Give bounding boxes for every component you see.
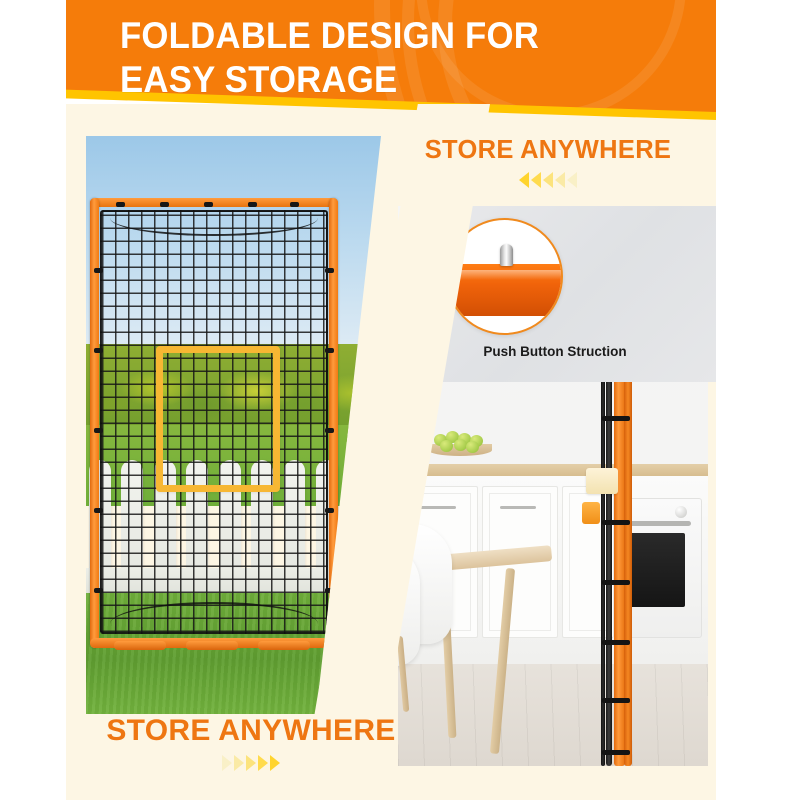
chevron-right-icon — [270, 755, 280, 771]
chevron-left-icon — [543, 172, 553, 188]
store-anywhere-top-label: STORE ANYWHERE — [380, 136, 716, 165]
strike-zone-target — [156, 346, 280, 492]
frame-top-bar — [90, 198, 338, 207]
store-anywhere-top-callout: STORE ANYWHERE — [380, 136, 716, 208]
kitchen-countertop — [398, 464, 708, 476]
product-label-tag — [586, 468, 618, 494]
right-arrow-row — [86, 755, 416, 771]
net-bottom-sag — [110, 602, 318, 624]
left-arrow-row — [380, 172, 716, 188]
chevron-right-icon — [258, 755, 268, 771]
header-title-line-1: FOLDABLE DESIGN FOR — [120, 14, 562, 58]
orange-tube — [446, 264, 563, 316]
chevron-right-icon — [222, 755, 232, 771]
rebounder-frame — [90, 198, 338, 648]
push-button-pin-icon — [500, 244, 513, 266]
chevron-right-icon — [234, 755, 244, 771]
header-banner: FOLDABLE DESIGN FOR EASY STORAGE — [0, 0, 800, 132]
chevron-left-icon — [555, 172, 565, 188]
right-page-margin — [716, 0, 800, 800]
header-title: FOLDABLE DESIGN FOR EASY STORAGE — [120, 14, 562, 102]
chevron-left-icon — [519, 172, 529, 188]
header-title-line-2: EASY STORAGE — [120, 58, 562, 102]
push-button-label: Push Button Struction — [410, 344, 700, 359]
chevron-left-icon — [567, 172, 577, 188]
store-anywhere-bottom-callout: STORE ANYWHERE — [86, 714, 416, 794]
left-page-margin — [0, 0, 66, 800]
store-anywhere-bottom-label: STORE ANYWHERE — [86, 714, 416, 748]
chevron-left-icon — [531, 172, 541, 188]
product-marketing-image: FOLDABLE DESIGN FOR EASY STORAGE — [0, 0, 800, 800]
frame-left-post — [90, 198, 99, 648]
product-bracket — [582, 502, 600, 524]
net-top-sag — [110, 218, 318, 236]
chevron-right-icon — [246, 755, 256, 771]
